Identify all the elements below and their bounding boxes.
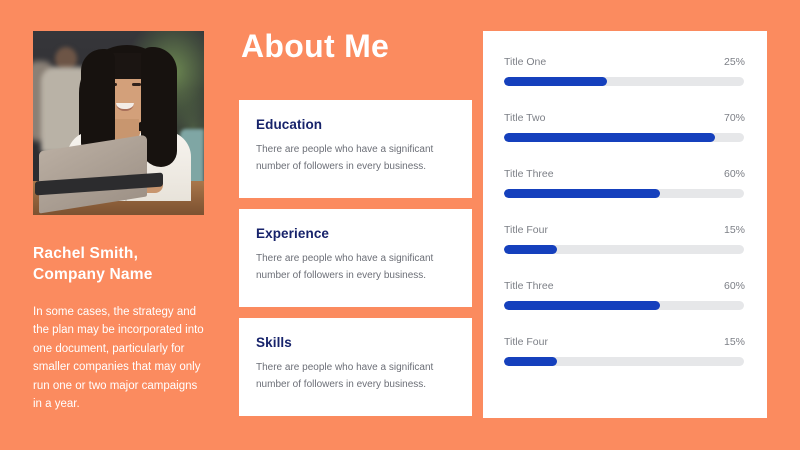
profile-photo-image [33,31,204,215]
skill-row: Title One 25% [504,56,745,86]
skill-percent: 15% [724,336,745,348]
info-card-title: Skills [256,335,455,350]
page-title: About Me [241,28,389,65]
skill-progress-track [504,301,744,310]
skill-label: Title Four [504,336,548,348]
profile-name: Rachel Smith, Company Name [33,243,213,285]
profile-bio: In some cases, the strategy and the plan… [33,303,209,413]
skill-progress-fill [504,133,715,142]
skill-row: Title Four 15% [504,336,745,366]
skill-progress-track [504,133,744,142]
skill-progress-fill [504,301,660,310]
skill-header: Title Three 60% [504,280,745,292]
skill-progress-track [504,189,744,198]
slide-about-me: Rachel Smith, Company Name In some cases… [0,0,800,450]
skill-percent: 60% [724,280,745,292]
skill-progress-fill [504,189,660,198]
skill-percent: 15% [724,224,745,236]
skills-panel: Title One 25% Title Two 70% Title Three … [483,31,767,418]
info-card-text: There are people who have a significant … [256,360,455,393]
skill-label: Title Three [504,168,554,180]
skill-percent: 25% [724,56,745,68]
skill-row: Title Three 60% [504,280,745,310]
skill-label: Title Three [504,280,554,292]
info-card-list: Education There are people who have a si… [239,100,472,427]
skill-row: Title Three 60% [504,168,745,198]
skill-label: Title One [504,56,546,68]
skill-progress-fill [504,357,557,366]
skill-progress-fill [504,77,607,86]
skill-label: Title Four [504,224,548,236]
profile-photo [33,31,204,215]
skill-progress-track [504,245,744,254]
skill-header: Title Three 60% [504,168,745,180]
skill-header: Title Four 15% [504,336,745,348]
skill-label: Title Two [504,112,545,124]
skill-progress-fill [504,245,557,254]
info-card-title: Education [256,117,455,132]
skill-header: Title Two 70% [504,112,745,124]
info-card-education: Education There are people who have a si… [239,100,472,198]
skill-progress-track [504,77,744,86]
info-card-text: There are people who have a significant … [256,251,455,284]
skill-progress-track [504,357,744,366]
info-card-skills: Skills There are people who have a signi… [239,318,472,416]
skill-row: Title Four 15% [504,224,745,254]
skill-percent: 70% [724,112,745,124]
skill-percent: 60% [724,168,745,180]
skill-row: Title Two 70% [504,112,745,142]
subject-eye-right [132,83,141,86]
info-card-text: There are people who have a significant … [256,142,455,175]
skill-header: Title Four 15% [504,224,745,236]
info-card-experience: Experience There are people who have a s… [239,209,472,307]
info-card-title: Experience [256,226,455,241]
skill-header: Title One 25% [504,56,745,68]
